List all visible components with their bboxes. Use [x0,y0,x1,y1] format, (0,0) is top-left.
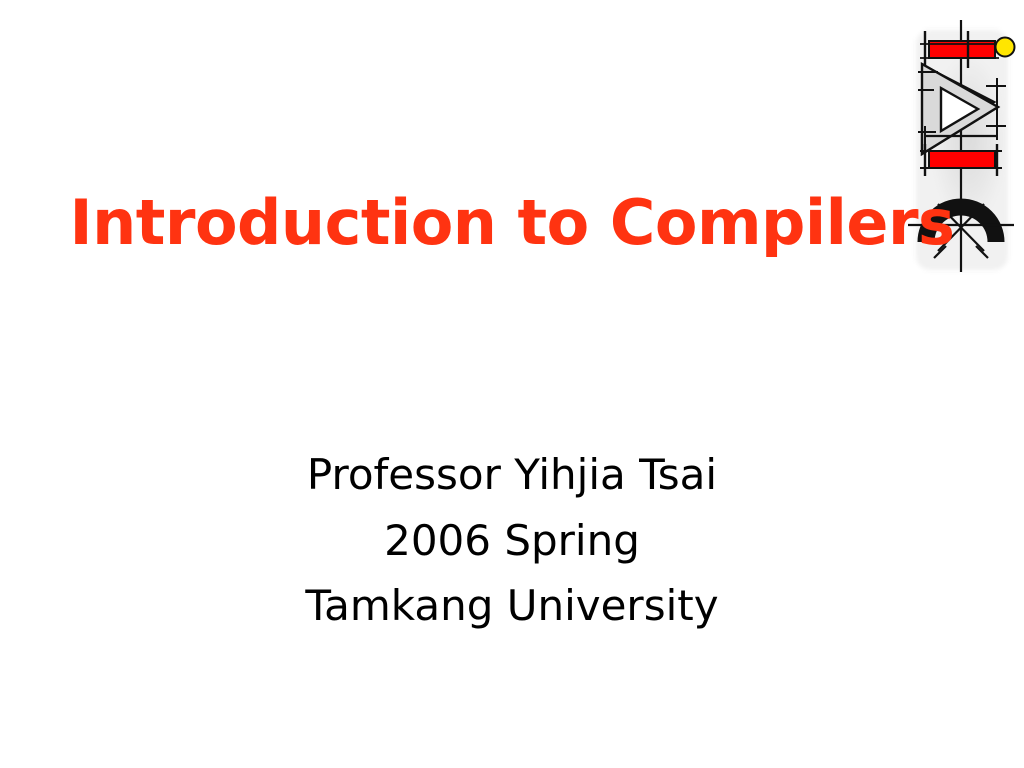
logo-yellow-dot-icon [996,38,1015,57]
subtitle-line-institution: Tamkang University [0,573,1024,639]
subtitle-line-term: 2006 Spring [0,508,1024,574]
subtitle-line-presenter: Professor Yihjia Tsai [0,442,1024,508]
slide-title: Introduction to Compilers [0,186,1024,259]
subtitle-block: Professor Yihjia Tsai 2006 Spring Tamkan… [0,442,1024,639]
slide-canvas: Introduction to Compilers Professor Yihj… [0,0,1024,768]
title-block: Introduction to Compilers [0,186,1024,259]
